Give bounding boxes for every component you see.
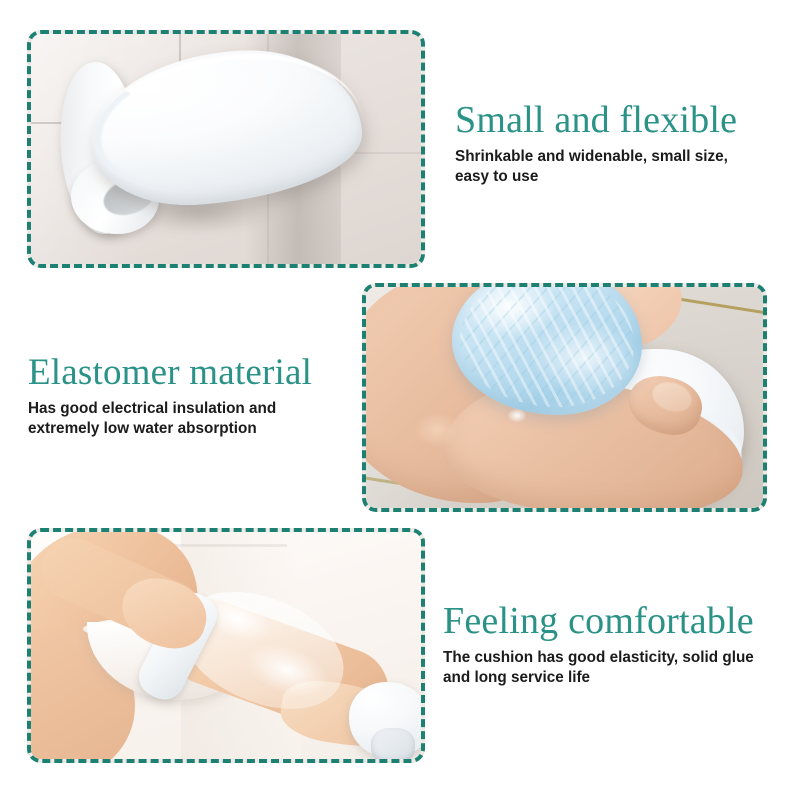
panel-1-photo <box>31 34 421 264</box>
feature-text-feeling-comfortable: Feeling comfortable The cushion has good… <box>443 602 754 688</box>
feature-heading: Elastomer material <box>28 354 312 392</box>
feature-description: The cushion has good elasticity, solid g… <box>443 648 754 688</box>
panel-2-photo <box>366 287 763 508</box>
feature-image-feeling-comfortable <box>27 528 425 763</box>
suction-cup <box>371 728 415 759</box>
ankle <box>414 413 460 447</box>
feature-heading: Feeling comfortable <box>443 602 754 641</box>
infographic-canvas: Small and flexible Shrinkable and widena… <box>0 0 800 800</box>
feature-description: Has good electrical insulation and extre… <box>28 399 312 439</box>
feature-text-elastomer-material: Elastomer material Has good electrical i… <box>28 354 312 438</box>
feature-image-elastomer-material <box>362 283 767 512</box>
panel-3-photo <box>31 532 421 759</box>
feature-heading: Small and flexible <box>455 101 737 140</box>
soap-droplet <box>508 409 526 422</box>
feature-image-small-and-flexible <box>27 30 425 268</box>
feature-description: Shrinkable and widenable, small size, ea… <box>455 147 737 187</box>
feature-text-small-and-flexible: Small and flexible Shrinkable and widena… <box>455 101 737 187</box>
